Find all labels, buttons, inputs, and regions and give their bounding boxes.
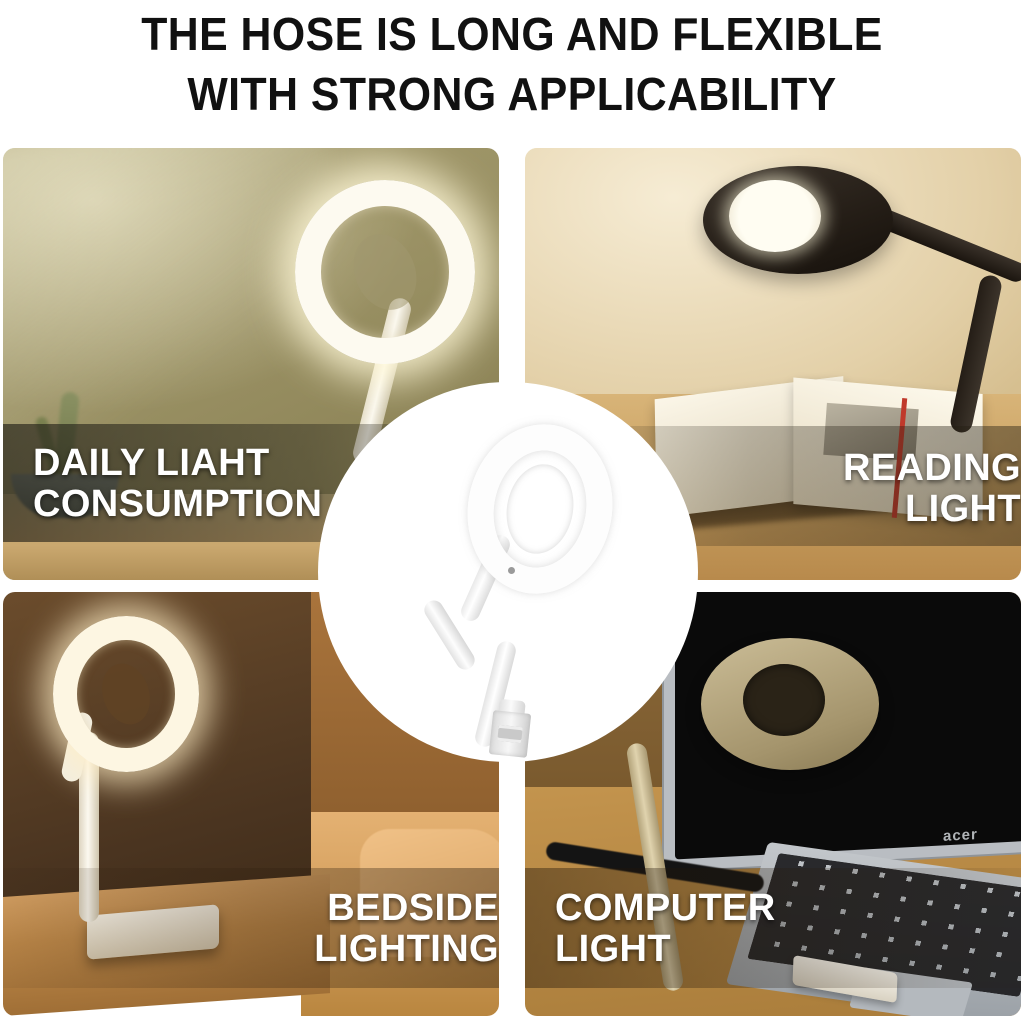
caption-line-2: LIGHT — [555, 929, 1021, 970]
caption-line-2: LIGHTING — [3, 929, 499, 970]
lamp-ring-head — [703, 166, 893, 274]
product-power-button — [508, 567, 515, 574]
headline: THE HOSE IS LONG AND FLEXIBLE WITH STRON… — [0, 0, 1024, 140]
lamp-ring-head — [295, 180, 475, 364]
panel-caption: COMPUTER LIGHT — [525, 888, 1021, 969]
headline-line-1: THE HOSE IS LONG AND FLEXIBLE — [36, 0, 988, 64]
center-product-circle — [318, 382, 698, 762]
headline-line-2: WITH STRONG APPLICABILITY — [36, 64, 988, 124]
lamp-ring-head — [53, 616, 199, 772]
caption-line-1: COMPUTER — [555, 888, 1021, 929]
caption-line-1: BEDSIDE — [3, 888, 499, 929]
product-usb-plug — [489, 710, 531, 758]
product-infographic: THE HOSE IS LONG AND FLEXIBLE WITH STRON… — [0, 0, 1024, 1024]
lamp-ring-head — [701, 638, 879, 770]
panel-caption: BEDSIDE LIGHTING — [3, 888, 499, 969]
